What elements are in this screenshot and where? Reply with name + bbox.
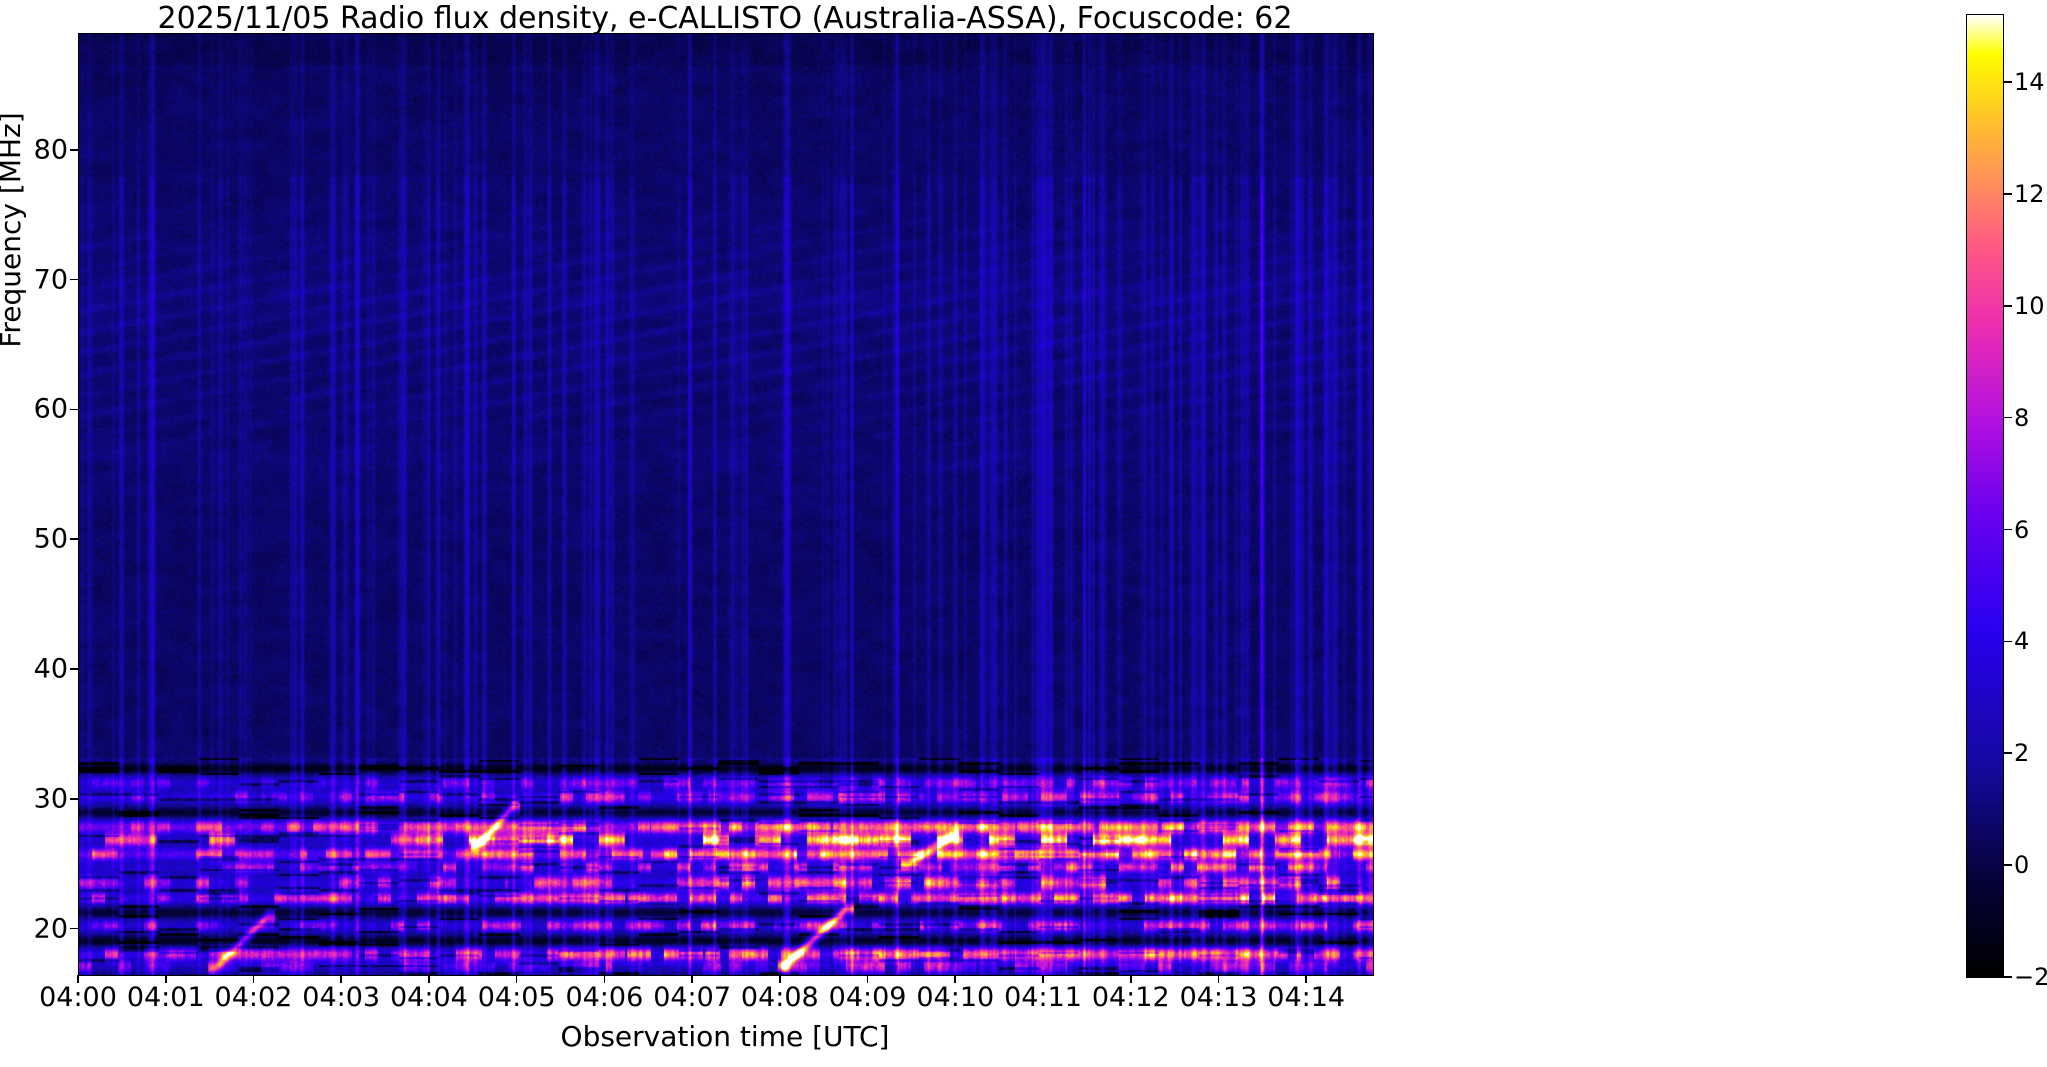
x-axis-label: Observation time [UTC] <box>78 1020 1372 1053</box>
colorbar-tick-mark <box>2004 193 2012 195</box>
spectrogram-figure: 2025/11/05 Radio flux density, e-CALLIST… <box>0 0 2047 1067</box>
y-tick-mark <box>70 538 78 540</box>
y-axis-label: Frequency [MHz] <box>0 80 27 380</box>
colorbar-tick-mark <box>2004 864 2012 866</box>
y-tick-mark <box>70 798 78 800</box>
y-tick-mark <box>70 928 78 930</box>
colorbar-tick-label: 2 <box>2014 739 2029 767</box>
colorbar-tick-label: 6 <box>2014 516 2029 544</box>
colorbar-tick-label: 10 <box>2014 292 2045 320</box>
colorbar-ticks: 14121086420−2 <box>0 0 2047 1067</box>
colorbar-tick-label: 12 <box>2014 180 2045 208</box>
colorbar-tick-label: 0 <box>2014 851 2029 879</box>
y-tick-mark <box>70 279 78 281</box>
colorbar-tick-label: 8 <box>2014 404 2029 432</box>
colorbar-tick-mark <box>2004 752 2012 754</box>
colorbar-tick-mark <box>2004 641 2012 643</box>
colorbar[interactable] <box>1966 14 2004 978</box>
y-tick-mark <box>70 149 78 151</box>
colorbar-tick-mark <box>2004 976 2012 978</box>
colorbar-tick-label: 4 <box>2014 627 2029 655</box>
colorbar-tick-mark <box>2004 81 2012 83</box>
colorbar-gradient <box>1967 15 2003 977</box>
y-tick-mark <box>70 409 78 411</box>
y-tick-mark <box>70 668 78 670</box>
colorbar-tick-label: −2 <box>2014 963 2047 991</box>
colorbar-tick-mark <box>2004 529 2012 531</box>
colorbar-tick-mark <box>2004 417 2012 419</box>
colorbar-tick-mark <box>2004 305 2012 307</box>
colorbar-label: dB above background <box>2012 0 2045 160</box>
